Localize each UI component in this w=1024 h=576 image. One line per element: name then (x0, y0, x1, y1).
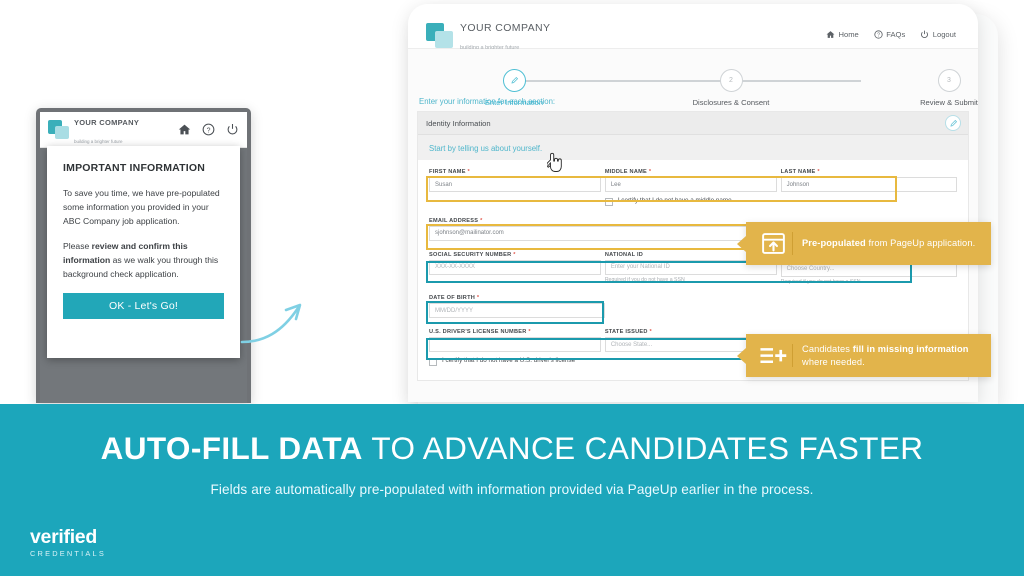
step-1-label: Enter Information (454, 98, 574, 107)
ssn-input[interactable]: XXX-XX-XXXX (429, 260, 601, 275)
upload-window-icon (756, 231, 790, 256)
modal-heading: IMPORTANT INFORMATION (63, 162, 224, 174)
nav-label-logout: Logout (933, 30, 956, 39)
middle-name-input[interactable]: Lee (605, 177, 777, 192)
home-icon (826, 30, 835, 39)
list-add-icon (756, 345, 790, 367)
required-asterisk: * (528, 329, 530, 335)
step-2-label: Disclosures & Consent (671, 98, 791, 107)
verified-credentials-logo: verified CREDENTIALS (30, 528, 106, 559)
no-middle-name-label: I certify that I do not have a middle na… (618, 197, 732, 206)
panel-title: Identity Information (426, 119, 491, 128)
required-asterisk: * (649, 169, 651, 175)
step-enter-information[interactable]: Enter Information (454, 69, 574, 107)
required-asterisk: * (817, 169, 819, 175)
panel-subtitle: Start by telling us about yourself. (418, 135, 968, 160)
app-header: YOUR COMPANY building a brighter future … (408, 4, 978, 49)
slide-canvas: YOUR COMPANY building a brighter future … (0, 0, 1024, 576)
logo-credentials: CREDENTIALS (30, 549, 106, 558)
logo-squares-icon (48, 120, 70, 140)
teal-banner: AUTO-FILL DATA TO ADVANCE CANDIDATES FAS… (0, 404, 1024, 576)
ok-lets-go-button[interactable]: OK - Let's Go! (63, 293, 224, 319)
field-dl-number: U.S. DRIVER'S LICENSE NUMBER * I certify… (429, 329, 605, 366)
callout-tail (737, 236, 746, 252)
national-id-hint: Required if you do not have a SSN (605, 277, 777, 283)
svg-text:?: ? (207, 127, 211, 134)
label-first-name: FIRST NAME (429, 169, 466, 175)
nav-label-faqs: FAQs (886, 30, 905, 39)
first-name-input[interactable]: Susan (429, 177, 601, 192)
label-state-issued: STATE ISSUED (605, 329, 648, 335)
no-middle-name-row[interactable]: I certify that I do not have a middle na… (605, 197, 777, 206)
logo-verified: verified (30, 528, 106, 548)
tablet-logo-tagline: building a brighter future (74, 139, 123, 144)
logo-title: YOUR COMPANY (460, 22, 550, 34)
progress-stepper: Enter Information 2 Disclosures & Consen… (408, 49, 978, 97)
nav-item-faqs[interactable]: ? FAQs (874, 30, 906, 39)
required-asterisk: * (650, 329, 652, 335)
tablet-company-logo: YOUR COMPANY building a brighter future (48, 112, 139, 148)
modal-paragraph-2: Please review and confirm this informati… (63, 240, 224, 282)
label-last-name: LAST NAME (781, 169, 816, 175)
nav-item-logout[interactable]: Logout (920, 30, 956, 39)
tablet-screen: YOUR COMPANY building a brighter future … (40, 112, 247, 403)
app-nav: Home ? FAQs Logout (826, 30, 956, 39)
required-asterisk: * (513, 252, 515, 258)
form-row-dob: DATE OF BIRTH * MM/DD/YYYY (429, 295, 605, 318)
tablet-logo-title: YOUR COMPANY (74, 118, 139, 127)
question-circle-icon: ? (874, 30, 883, 39)
step-2-circle: 2 (720, 69, 743, 92)
logo-squares-icon (426, 23, 454, 49)
callout-divider (792, 232, 793, 255)
field-last-name: LAST NAME * Johnson (781, 169, 957, 206)
field-middle-name: MIDDLE NAME * Lee I certify that I do no… (605, 169, 781, 206)
pencil-icon (510, 76, 519, 85)
country-hint: Required if you do not have a SSN (781, 279, 957, 285)
pencil-icon[interactable] (945, 115, 961, 131)
important-information-modal: IMPORTANT INFORMATION To save you time, … (47, 146, 240, 358)
no-middle-name-checkbox[interactable] (605, 198, 613, 206)
callout-tail (737, 348, 746, 364)
label-middle-name: MIDDLE NAME (605, 169, 647, 175)
modal-paragraph-1: To save you time, we have pre-populated … (63, 187, 224, 229)
required-asterisk: * (480, 218, 482, 224)
required-asterisk: * (468, 169, 470, 175)
tablet-device-mockup: YOUR COMPANY building a brighter future … (36, 108, 251, 403)
power-icon[interactable] (226, 123, 239, 136)
pointer-arrow-icon (240, 292, 320, 352)
step-3-circle: 3 (938, 69, 961, 92)
callout-divider (792, 344, 793, 367)
no-drivers-license-label: I certify that I do not have a U.S. driv… (442, 357, 575, 366)
banner-subhead: Fields are automatically pre-populated w… (0, 482, 1024, 497)
label-dob: DATE OF BIRTH (429, 295, 475, 301)
dob-input[interactable]: MM/DD/YYYY (429, 303, 605, 318)
tablet-content: Action Required Provide your information… (40, 148, 247, 403)
step-disclosures-consent[interactable]: 2 Disclosures & Consent (671, 69, 791, 107)
power-icon (920, 30, 929, 39)
field-first-name: FIRST NAME * Susan (429, 169, 605, 206)
nav-item-home[interactable]: Home (826, 30, 859, 39)
help-icon[interactable]: ? (202, 123, 215, 136)
label-national-id: NATIONAL ID (605, 252, 643, 258)
dl-number-input[interactable] (429, 337, 601, 352)
banner-headline: AUTO-FILL DATA TO ADVANCE CANDIDATES FAS… (0, 430, 1024, 467)
home-icon[interactable] (178, 123, 191, 136)
step-1-circle (503, 69, 526, 92)
callout-2-text: Candidates fill in missing information w… (802, 343, 981, 368)
nav-label-home: Home (839, 30, 859, 39)
form-row-names: FIRST NAME * Susan MIDDLE NAME * Lee I c… (429, 165, 957, 206)
callout-prepopulated: Pre-populated from PageUp application. (746, 222, 991, 265)
label-email: EMAIL ADDRESS (429, 218, 478, 224)
callout-fill-missing: Candidates fill in missing information w… (746, 334, 991, 377)
no-drivers-license-checkbox[interactable] (429, 358, 437, 366)
label-ssn: SOCIAL SECURITY NUMBER (429, 252, 511, 258)
panel-header: Identity Information (418, 112, 968, 135)
svg-text:?: ? (877, 32, 880, 38)
step-review-submit[interactable]: 3 Review & Submit (889, 69, 978, 107)
mouse-cursor-pointer-icon (547, 152, 564, 173)
label-dl-number: U.S. DRIVER'S LICENSE NUMBER (429, 329, 527, 335)
last-name-input[interactable]: Johnson (781, 177, 957, 192)
callout-1-text: Pre-populated from PageUp application. (802, 237, 975, 250)
tablet-topbar: YOUR COMPANY building a brighter future … (40, 112, 247, 148)
no-dl-row[interactable]: I certify that I do not have a U.S. driv… (429, 357, 601, 366)
step-3-label: Review & Submit (889, 98, 978, 107)
tablet-nav: ? (178, 123, 239, 136)
field-ssn: SOCIAL SECURITY NUMBER * XXX-XX-XXXX (429, 252, 605, 286)
required-asterisk: * (477, 295, 479, 301)
